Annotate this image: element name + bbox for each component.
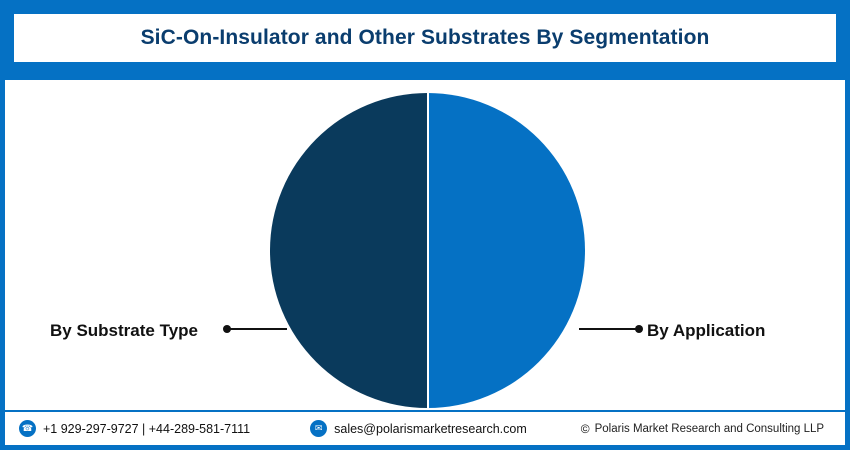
footer-phone[interactable]: ☎ +1 929-297-9727 | +44-289-581-7111 xyxy=(19,420,250,437)
pie-label-by-substrate-type: By Substrate Type xyxy=(50,322,198,339)
envelope-icon: ✉ xyxy=(310,420,327,437)
footer-copyright-text: Polaris Market Research and Consulting L… xyxy=(595,423,824,435)
pie-slice-by-substrate-type[interactable] xyxy=(270,93,428,408)
page-title: SiC-On-Insulator and Other Substrates By… xyxy=(141,26,710,50)
pie-slice-by-application[interactable] xyxy=(428,93,586,408)
title-bar: SiC-On-Insulator and Other Substrates By… xyxy=(14,14,836,62)
phone-icon: ☎ xyxy=(19,420,36,437)
chart-canvas: By Substrate Type By Application xyxy=(5,80,845,410)
footer-phone-text: +1 929-297-9727 | +44-289-581-7111 xyxy=(43,422,250,436)
copyright-icon: © xyxy=(581,422,590,436)
pie-label-by-application: By Application xyxy=(647,322,765,339)
pie-chart xyxy=(270,93,585,408)
footer-bar: ☎ +1 929-297-9727 | +44-289-581-7111 ✉ s… xyxy=(5,412,845,445)
leader-line-right xyxy=(579,328,639,330)
poster-frame: SiC-On-Insulator and Other Substrates By… xyxy=(0,0,850,450)
footer-copyright: © Polaris Market Research and Consulting… xyxy=(581,422,824,436)
footer-email[interactable]: ✉ sales@polarismarketresearch.com xyxy=(310,420,527,437)
pie-divider xyxy=(427,93,429,408)
leader-line-left xyxy=(227,328,287,330)
footer-email-text: sales@polarismarketresearch.com xyxy=(334,422,527,436)
